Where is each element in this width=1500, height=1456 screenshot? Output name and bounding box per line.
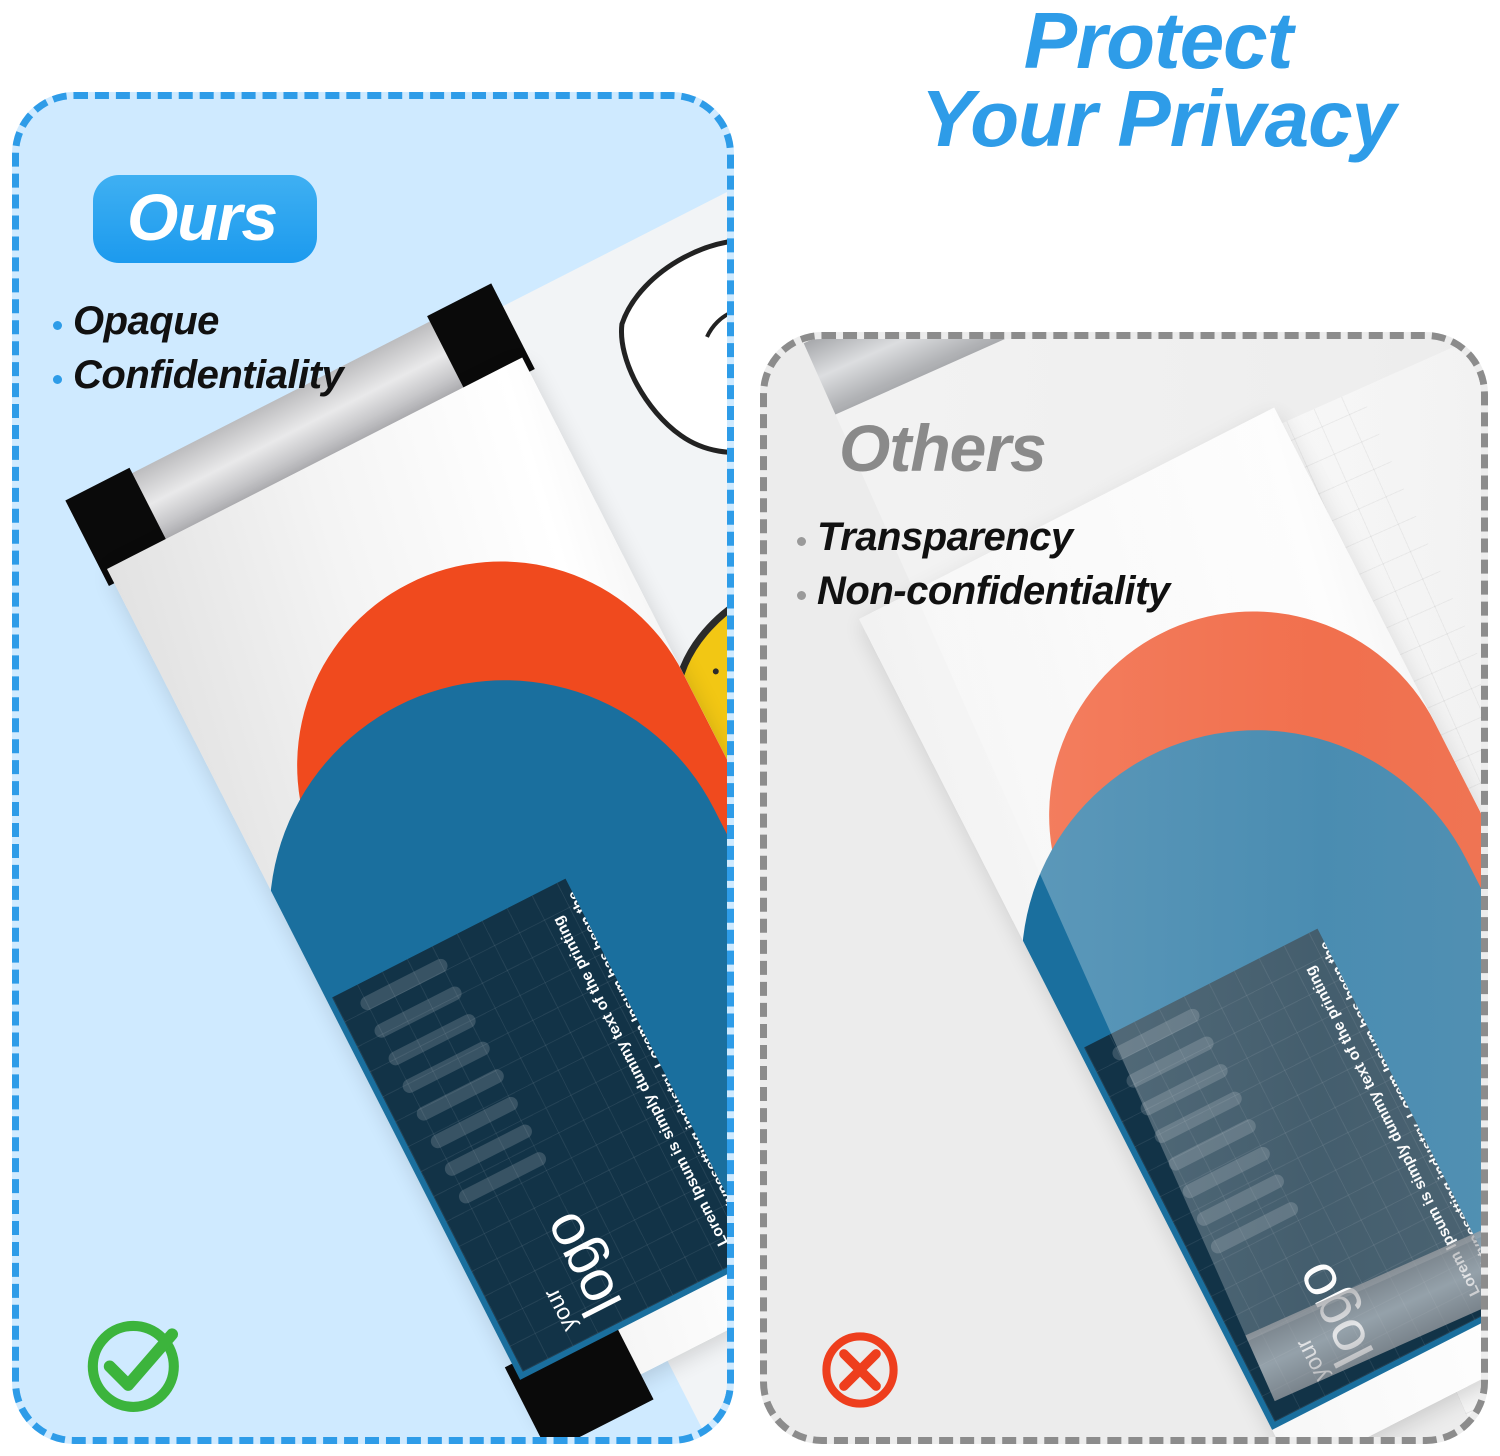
ours-badge: Ours [93, 175, 317, 263]
page-title: Protect Your Privacy [838, 2, 1478, 159]
list-item: Transparency [795, 511, 1170, 565]
infographic-stage: Protect Your Privacy [0, 0, 1500, 1456]
cross-circle-icon [817, 1327, 903, 1413]
list-item: Non-confidentiality [795, 565, 1170, 619]
list-item: Confidentiality [51, 349, 343, 403]
headline-line-2: Your Privacy [838, 80, 1478, 158]
others-title: Others [839, 415, 1046, 481]
check-circle-icon [81, 1309, 189, 1417]
ours-feature-list: Opaque Confidentiality [51, 295, 343, 402]
bag-top-seal [804, 332, 1402, 414]
others-feature-list: Transparency Non-confidentiality [795, 511, 1170, 618]
list-item: Opaque [51, 295, 343, 349]
panel-ours: your logo Lorem Ipsum is simply dummy te… [12, 92, 734, 1444]
headline-line-1: Protect [838, 2, 1478, 80]
decorative-bars [1110, 1006, 1332, 1317]
panel-others: BUSINESS BROCHURE your l [760, 332, 1488, 1444]
decorative-bars [358, 956, 580, 1267]
others-product-scene: BUSINESS BROCHURE your l [767, 339, 1481, 1437]
